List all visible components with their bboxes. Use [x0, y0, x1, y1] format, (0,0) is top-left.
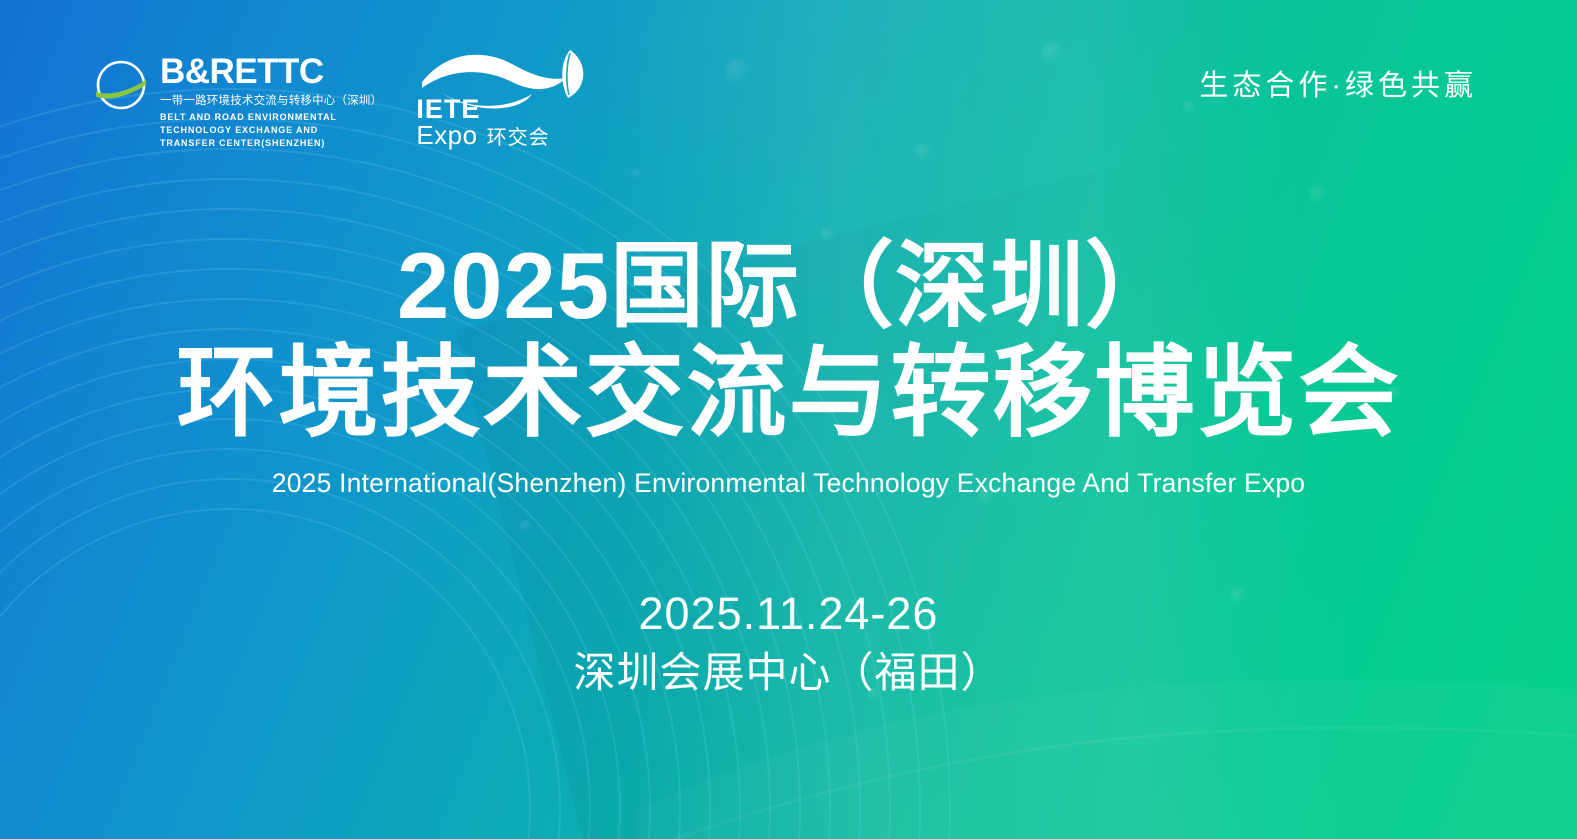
iete-subtitle-row: Expo 环交会	[416, 122, 549, 148]
banner-main-content: 2025国际（深圳） 环境技术交流与转移博览会 2025 Internation…	[0, 238, 1577, 698]
iete-expo-logo[interactable]: IETE Expo 环交会	[416, 48, 586, 152]
circle-band-emblem-icon	[92, 58, 150, 114]
iete-acronym: IETE	[416, 96, 480, 123]
logo-group: B&RETTC 一带一路环境技术交流与转移中心（深圳） BELT AND ROA…	[92, 48, 586, 152]
brettc-wordmark: B&RETTC	[160, 54, 382, 89]
event-banner: B&RETTC 一带一路环境技术交流与转移中心（深圳） BELT AND ROA…	[0, 0, 1577, 839]
event-title-line-2: 环境技术交流与转移博览会	[177, 342, 1401, 444]
brettc-logo[interactable]: B&RETTC 一带一路环境技术交流与转移中心（深圳） BELT AND ROA…	[92, 50, 382, 150]
iete-expo-word: Expo	[416, 122, 477, 148]
event-title-line-1: 2025国际（深圳）	[397, 238, 1180, 334]
event-venue: 深圳会展中心（福田）	[573, 649, 1003, 697]
brettc-text-block: B&RETTC 一带一路环境技术交流与转移中心（深圳） BELT AND ROA…	[160, 54, 382, 150]
banner-slogan: 生态合作·绿色共赢	[1199, 62, 1477, 104]
brettc-english-name: BELT AND ROAD ENVIRONMENTAL TECHNOLOGY E…	[160, 111, 375, 150]
iete-chinese-label: 环交会	[487, 128, 550, 148]
event-subtitle-english: 2025 International(Shenzhen) Environment…	[272, 468, 1305, 500]
event-date: 2025.11.24-26	[639, 588, 939, 640]
brettc-chinese-name: 一带一路环境技术交流与转移中心（深圳）	[160, 94, 382, 108]
banner-header: B&RETTC 一带一路环境技术交流与转移中心（深圳） BELT AND ROA…	[0, 0, 1577, 200]
